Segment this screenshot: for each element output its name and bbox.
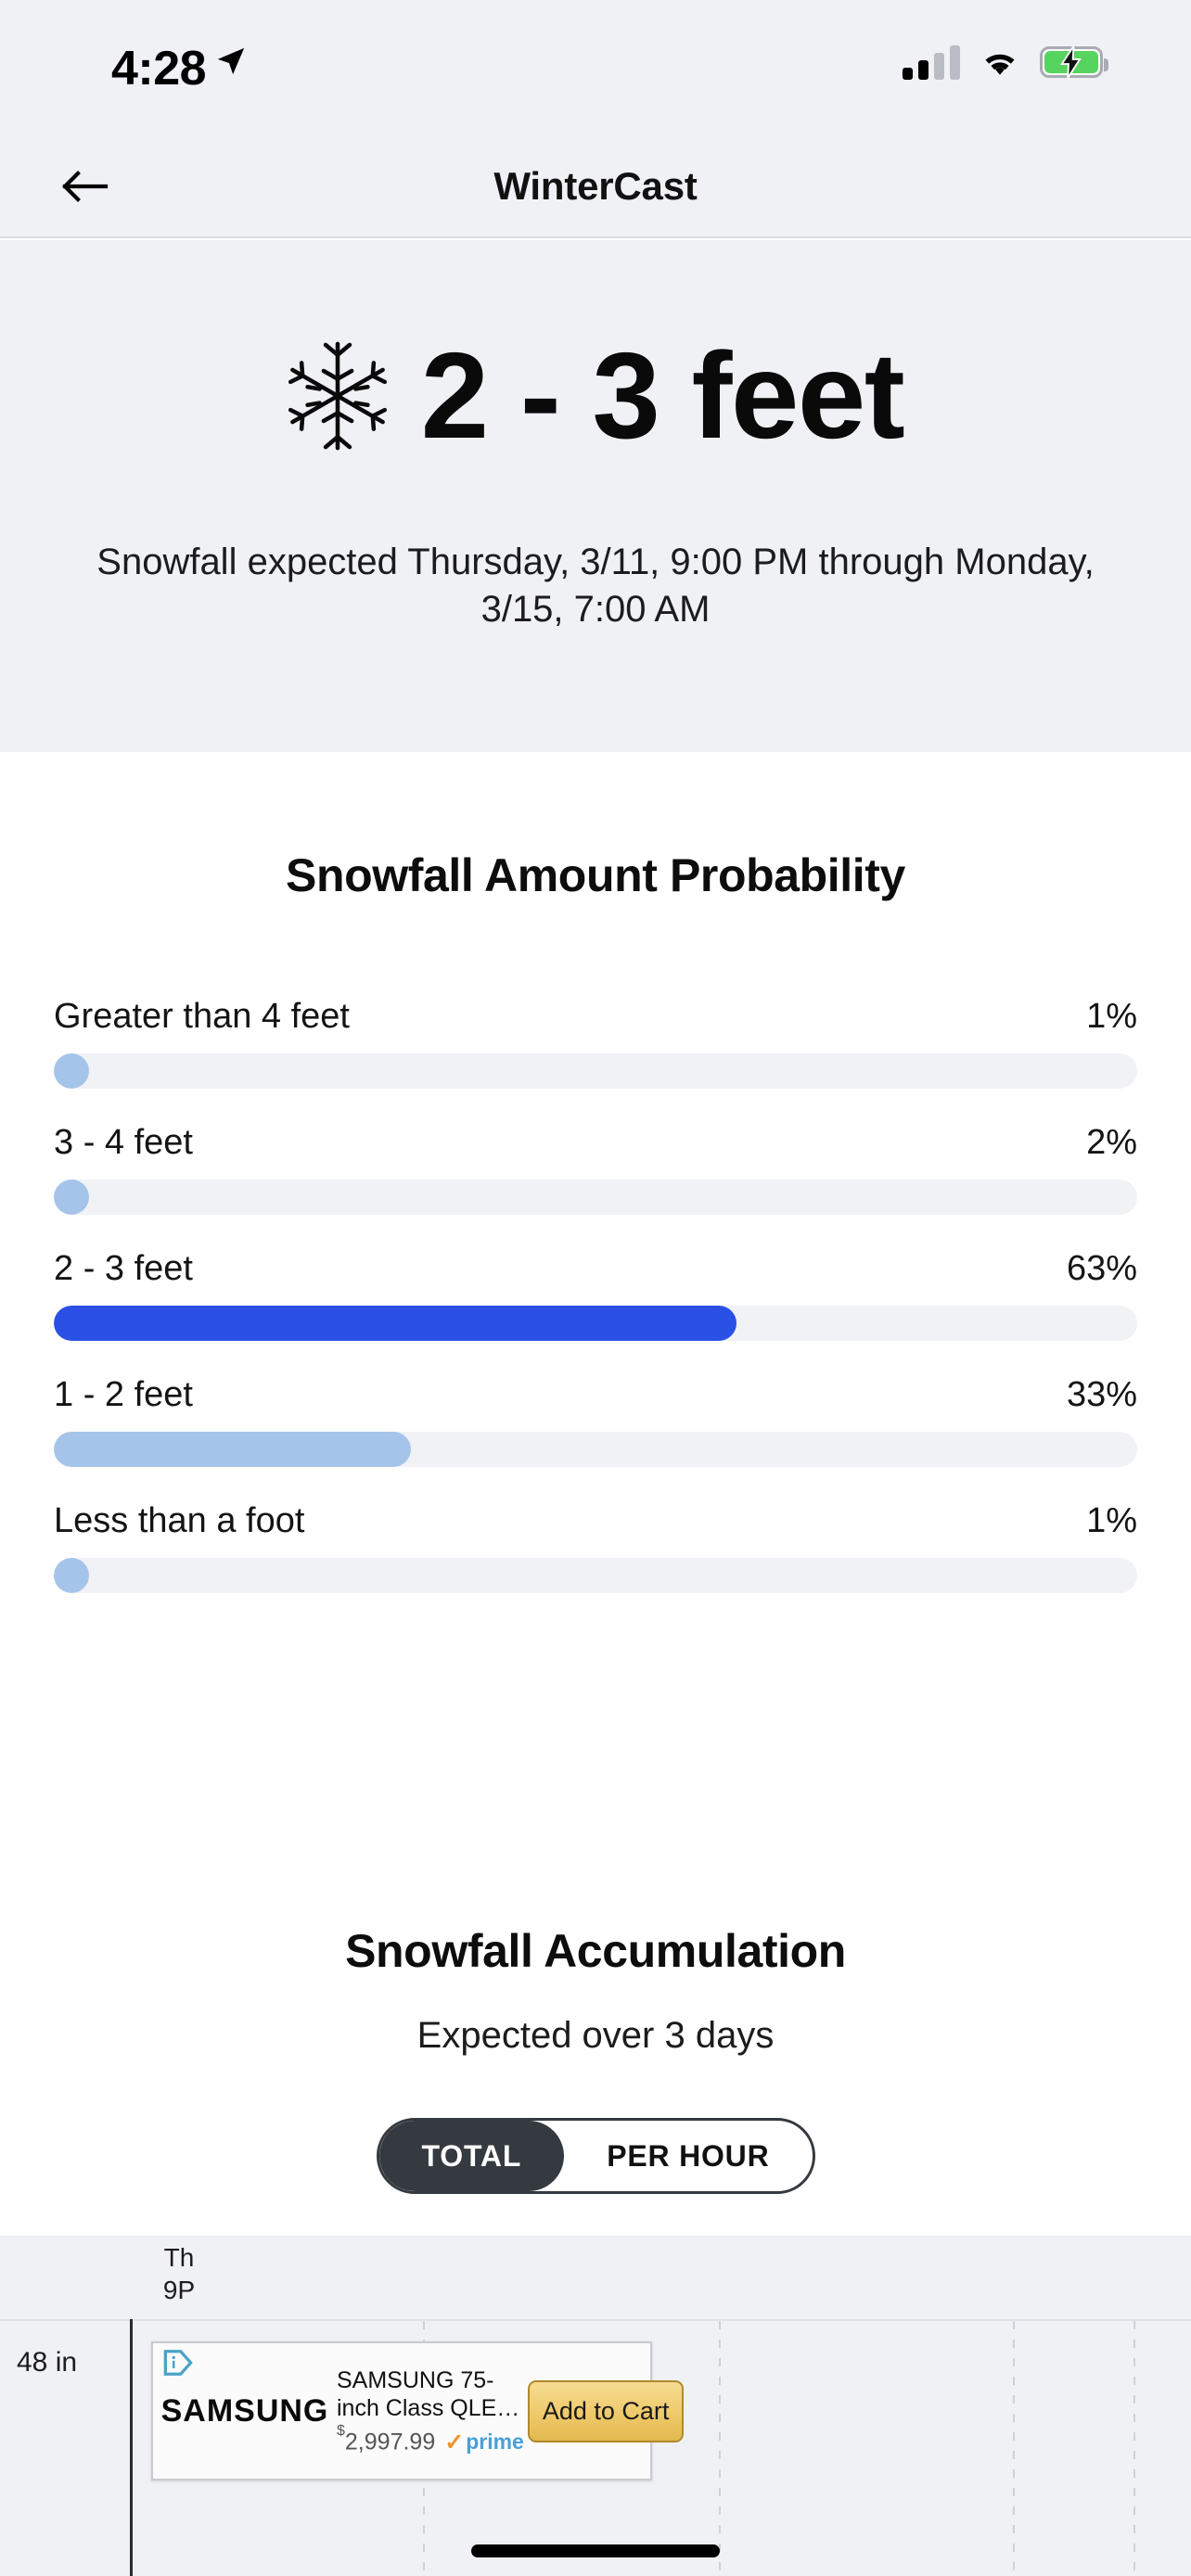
hero-amount-row: 2 - 3 feet bbox=[0, 335, 1191, 457]
ad-banner[interactable]: SAMSUNG SAMSUNG 75-inch Class QLE… $2,99… bbox=[151, 2341, 652, 2480]
wifi-icon bbox=[979, 45, 1021, 79]
ad-product-price: $2,997.99 bbox=[337, 2429, 435, 2455]
home-indicator[interactable] bbox=[471, 2544, 720, 2557]
hero-timing-text: Snowfall expected Thursday, 3/11, 9:00 P… bbox=[80, 539, 1111, 633]
page-title: WinterCast bbox=[0, 164, 1191, 209]
prime-label: prime bbox=[466, 2429, 524, 2455]
probability-bar-label: 2 - 3 feet bbox=[54, 1249, 193, 1289]
probability-bar-row: 3 - 4 feet2% bbox=[54, 1123, 1137, 1215]
toggle-option-total[interactable]: TOTAL bbox=[379, 2121, 565, 2191]
chart-y-axis bbox=[130, 2319, 133, 2576]
probability-bar-track bbox=[54, 1053, 1137, 1089]
ad-currency-symbol: $ bbox=[337, 2423, 345, 2439]
probability-bar-fill bbox=[54, 1432, 411, 1467]
ad-product-info: SAMSUNG 75-inch Class QLE… $2,997.99 ✓pr… bbox=[337, 2366, 528, 2456]
probability-bar-header: Less than a foot1% bbox=[54, 1501, 1137, 1541]
probability-bar-fill bbox=[54, 1306, 736, 1341]
probability-section-title: Snowfall Amount Probability bbox=[0, 848, 1191, 902]
battery-charging-icon bbox=[1040, 46, 1103, 78]
accumulation-section-title: Snowfall Accumulation bbox=[0, 1924, 1191, 1978]
chart-y-axis-label: 48 in bbox=[17, 2347, 77, 2378]
location-arrow-icon bbox=[215, 45, 247, 78]
probability-bar-header: 1 - 2 feet33% bbox=[54, 1375, 1137, 1415]
chart-gridline bbox=[1013, 2321, 1015, 2576]
accumulation-subtitle: Expected over 3 days bbox=[0, 2015, 1191, 2057]
prime-check-icon: ✓ bbox=[444, 2429, 464, 2456]
hero-snowfall-amount: 2 - 3 feet bbox=[421, 335, 904, 457]
probability-bar-track bbox=[54, 1180, 1137, 1215]
probability-bar-label: 3 - 4 feet bbox=[54, 1123, 193, 1163]
status-bar: 4:28 bbox=[0, 0, 1191, 135]
toggle-option-per-hour[interactable]: PER HOUR bbox=[564, 2121, 812, 2191]
chart-x-axis-label: Th9P bbox=[128, 2241, 230, 2306]
ad-price-row: $2,997.99 ✓prime bbox=[337, 2429, 524, 2456]
probability-bar-row: 2 - 3 feet63% bbox=[54, 1249, 1137, 1341]
app-screen: 4:28 Winte bbox=[0, 0, 1191, 2576]
nav-bar: WinterCast bbox=[0, 135, 1191, 238]
probability-bar-fill bbox=[54, 1558, 89, 1593]
probability-bar-fill bbox=[54, 1053, 89, 1089]
accumulation-toggle-wrap: TOTAL PER HOUR bbox=[0, 2118, 1191, 2194]
adchoices-icon[interactable] bbox=[162, 2349, 194, 2377]
probability-bar-row: 1 - 2 feet33% bbox=[54, 1375, 1137, 1467]
prime-badge: ✓prime bbox=[444, 2429, 524, 2456]
ad-brand-logo: SAMSUNG bbox=[153, 2393, 337, 2429]
probability-bar-list: Greater than 4 feet1%3 - 4 feet2%2 - 3 f… bbox=[0, 997, 1191, 1593]
probability-bar-track bbox=[54, 1432, 1137, 1467]
probability-bar-row: Less than a foot1% bbox=[54, 1501, 1137, 1593]
probability-bar-track bbox=[54, 1558, 1137, 1593]
charging-bolt-icon bbox=[1059, 46, 1083, 78]
snowfall-accumulation-section: Snowfall Accumulation Expected over 3 da… bbox=[0, 1924, 1191, 2194]
chart-gridline bbox=[1133, 2321, 1135, 2576]
cellular-signal-icon bbox=[903, 45, 960, 80]
forecast-hero: 2 - 3 feet Snowfall expected Thursday, 3… bbox=[0, 240, 1191, 752]
probability-bar-value: 2% bbox=[1086, 1123, 1137, 1163]
ad-product-title: SAMSUNG 75-inch Class QLE… bbox=[337, 2366, 524, 2423]
probability-bar-fill bbox=[54, 1180, 89, 1215]
probability-bar-label: Less than a foot bbox=[54, 1501, 304, 1541]
snowflake-icon bbox=[288, 340, 388, 452]
probability-bar-header: 2 - 3 feet63% bbox=[54, 1249, 1137, 1289]
status-bar-time: 4:28 bbox=[111, 41, 206, 96]
probability-bar-header: 3 - 4 feet2% bbox=[54, 1123, 1137, 1163]
probability-bar-value: 63% bbox=[1067, 1249, 1137, 1289]
probability-bar-label: Greater than 4 feet bbox=[54, 997, 350, 1037]
snowfall-probability-section: Snowfall Amount Probability Greater than… bbox=[0, 752, 1191, 1593]
probability-bar-track bbox=[54, 1306, 1137, 1341]
status-bar-indicators bbox=[903, 45, 1103, 80]
probability-bar-value: 33% bbox=[1067, 1375, 1137, 1415]
probability-bar-value: 1% bbox=[1086, 1501, 1137, 1541]
chart-gridline bbox=[719, 2321, 721, 2576]
probability-bar-value: 1% bbox=[1086, 997, 1137, 1037]
probability-bar-row: Greater than 4 feet1% bbox=[54, 997, 1137, 1089]
accumulation-mode-toggle[interactable]: TOTAL PER HOUR bbox=[377, 2118, 815, 2194]
probability-bar-header: Greater than 4 feet1% bbox=[54, 997, 1137, 1037]
ad-price-value: 2,997.99 bbox=[345, 2429, 435, 2455]
add-to-cart-button[interactable]: Add to Cart bbox=[528, 2380, 685, 2442]
probability-bar-label: 1 - 2 feet bbox=[54, 1375, 193, 1415]
